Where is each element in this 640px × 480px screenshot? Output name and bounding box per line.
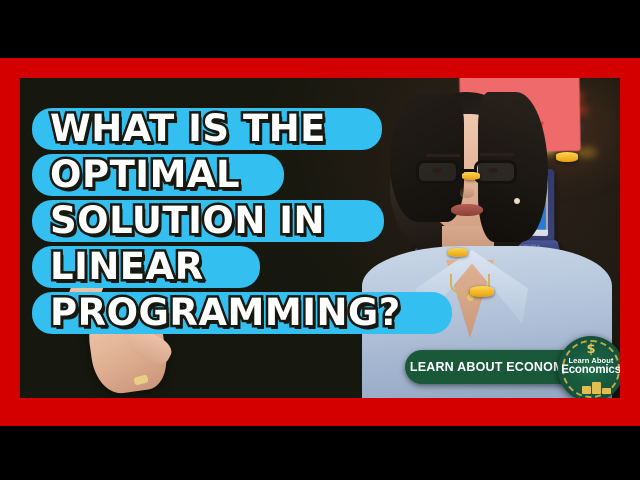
headline-text: PROGRAMMING? — [50, 290, 401, 335]
headline-line: PROGRAMMING? — [32, 290, 472, 336]
headline-text: WHAT IS THE — [50, 106, 326, 151]
headline-line: LINEAR — [32, 244, 472, 290]
coin-stack-icon — [592, 382, 601, 394]
eye — [488, 168, 498, 173]
headline-line: OPTIMAL — [32, 152, 472, 198]
gold-coin-icon — [556, 152, 578, 162]
gold-coin-icon — [470, 286, 494, 297]
headline-text: OPTIMAL — [50, 152, 240, 197]
headline-block: WHAT IS THEOPTIMALSOLUTION INLINEARPROGR… — [32, 106, 472, 336]
coin-stack-icon — [602, 388, 611, 394]
dollar-icon: $ — [558, 342, 620, 357]
earring — [514, 198, 520, 204]
content-area: WHAT IS THEOPTIMALSOLUTION INLINEARPROGR… — [20, 78, 620, 398]
eyebrow — [480, 153, 514, 156]
thumbnail-frame: WHAT IS THEOPTIMALSOLUTION INLINEARPROGR… — [0, 0, 640, 480]
badge-line-2: Economics — [558, 364, 620, 376]
headline-line: SOLUTION IN — [32, 198, 472, 244]
headline-text: LINEAR — [50, 244, 204, 289]
coin-stack-icon — [582, 386, 591, 394]
brand-badge[interactable]: $ Learn About Economics — [558, 336, 620, 398]
headline-text: SOLUTION IN — [50, 198, 325, 243]
headline-line: WHAT IS THE — [32, 106, 472, 152]
